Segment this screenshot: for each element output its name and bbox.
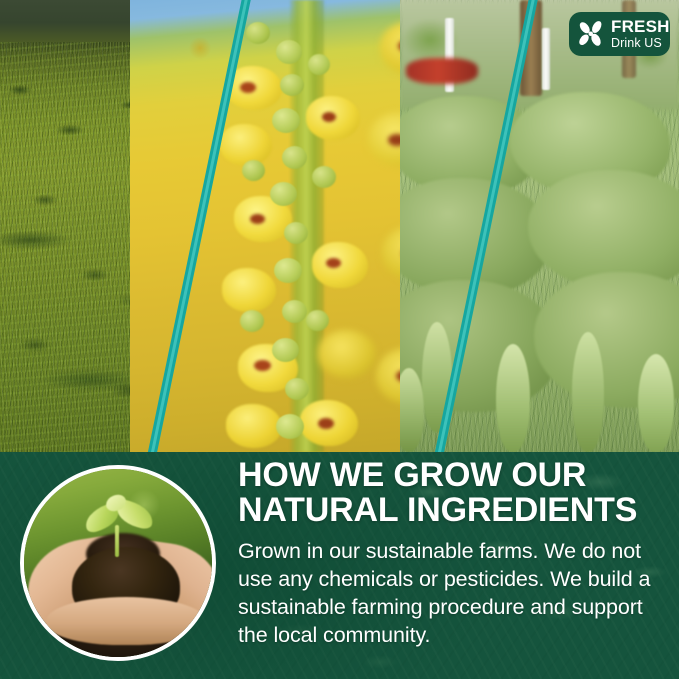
herb-sprig — [496, 344, 530, 452]
photo-collage-band: FRESH Drink US — [0, 0, 679, 452]
panel-heading-line-1: HOW WE GROW OUR — [238, 456, 586, 494]
fingers — [46, 597, 206, 645]
leaf-cluster-icon — [575, 18, 608, 51]
hands-holding-seedling-photo — [20, 465, 216, 661]
panel-heading: HOW WE GROW OUR NATURAL INGREDIENTS — [238, 452, 670, 528]
info-text-block: HOW WE GROW OUR NATURAL INGREDIENTS Grow… — [238, 452, 670, 679]
rosemary-herb-rows-photo — [400, 0, 679, 452]
seedling-stem — [115, 525, 119, 557]
herb-sprig — [572, 332, 604, 452]
info-panel: HOW WE GROW OUR NATURAL INGREDIENTS Grow… — [0, 452, 679, 679]
logo-fresh-text: FRESH — [611, 18, 670, 35]
logo-wordmark: FRESH Drink US — [611, 18, 670, 50]
logo-drink-us-text: Drink US — [611, 37, 670, 50]
red-flowerbed — [406, 58, 478, 84]
panel-body-text: Grown in our sustainable farms. We do no… — [238, 528, 670, 650]
product-infographic-image: FRESH Drink US HOW WE GROW OUR NATURAL I… — [0, 0, 679, 679]
herb-sprig — [638, 354, 674, 452]
panel-heading-line-2: NATURAL INGREDIENTS — [238, 491, 637, 529]
fresh-drink-us-logo: FRESH Drink US — [569, 12, 670, 56]
fence-post — [542, 28, 550, 90]
